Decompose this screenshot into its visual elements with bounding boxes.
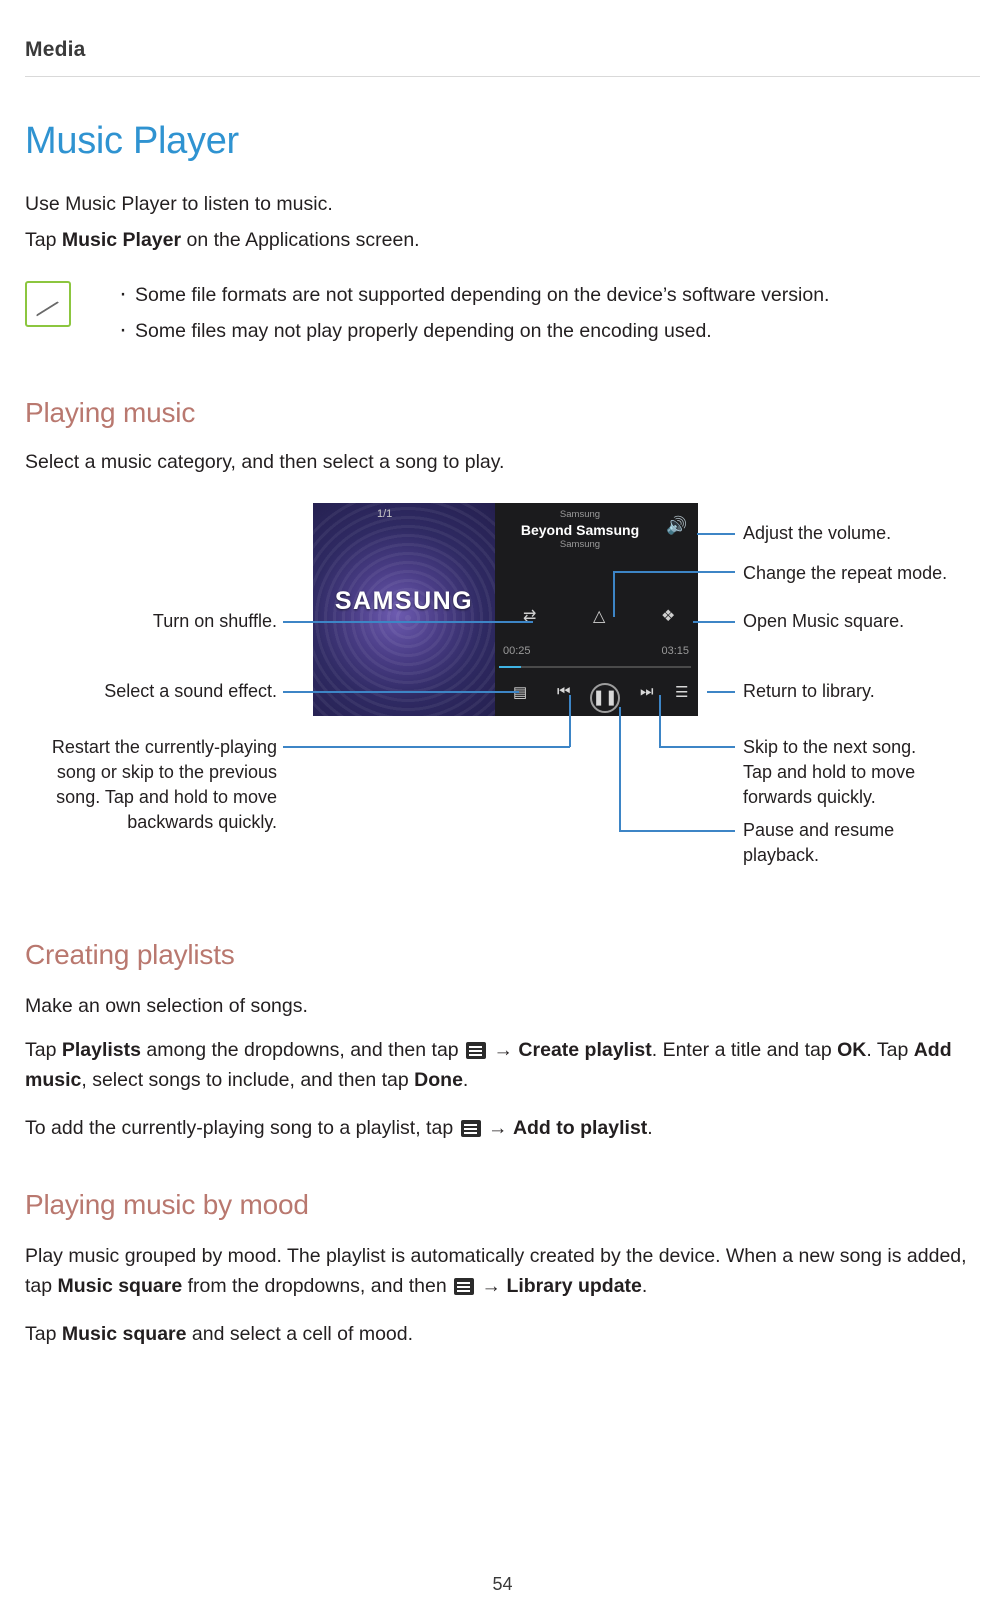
callout-repeat: Change the repeat mode. [743,561,1003,586]
menu-icon [454,1278,474,1295]
repeat-icon[interactable]: △ [593,607,605,627]
mood-p2-t2: and select a cell of mood. [187,1323,414,1345]
callout-next: Skip to the next song. Tap and hold to m… [743,735,958,810]
callout-pause: Pause and resume playback. [743,818,958,868]
callout-shuffle: Turn on shuffle. [45,609,277,634]
leader-line-square [693,621,735,623]
mood-p1-t3: . [642,1275,647,1297]
playlists-paragraph-2: To add the currently-playing song to a p… [25,1113,980,1143]
pl-p1-t3: . Enter a title and tap [652,1039,837,1061]
mood-paragraph-1: Play music grouped by mood. The playlist… [25,1241,980,1301]
mood-p2-t1: Tap [25,1323,62,1345]
pl-p1-t6: . [463,1069,468,1091]
note-item: Some file formats are not supported depe… [25,277,980,313]
track-position-indicator: 1/1 [377,508,392,520]
leader-line-volume [697,533,735,535]
intro-line-1: Use Music Player to listen to music. [25,189,980,219]
mood-p1-b2: Library update [506,1275,641,1297]
leader-line-library [707,691,735,693]
pl-p1-t2: among the dropdowns, and then tap [141,1039,464,1061]
pause-icon[interactable]: ❚❚ [590,683,620,713]
pl-p1-t5: , select songs to include, and then tap [81,1069,414,1091]
pl-p1-arrow: → [488,1039,518,1061]
music-square-icon[interactable]: ❖ [661,607,675,627]
leader-line-shuffle [283,621,533,623]
pl-p2-t1: To add the currently-playing song to a p… [25,1117,459,1139]
intro-2-bold: Music Player [62,229,181,251]
callout-volume: Adjust the volume. [743,521,1003,546]
playing-music-body: Select a music category, and then select… [25,447,980,477]
track-info: Samsung Beyond Samsung Samsung [495,509,665,551]
section-playing-music: Playing music [25,397,980,429]
callout-previous: Restart the currently-playing song or sk… [30,735,277,835]
callout-library: Return to library. [743,679,1003,704]
note-list: Some file formats are not supported depe… [25,277,980,349]
elapsed-time: 00:25 [503,645,531,657]
callout-music-square: Open Music square. [743,609,1003,634]
mood-p2-b1: Music square [62,1323,187,1345]
pl-p2-arrow: → [483,1117,513,1139]
section-creating-playlists: Creating playlists [25,939,980,971]
leader-line-next-h [659,746,735,748]
total-time: 03:15 [661,645,689,657]
artist-bottom-label: Samsung [495,539,665,551]
artist-top-label: Samsung [495,509,665,521]
pl-p1-t4: . Tap [866,1039,913,1061]
section-playing-by-mood: Playing music by mood [25,1189,980,1221]
creating-playlists-body: Make an own selection of songs. [25,991,980,1021]
next-track-icon[interactable]: ⏭ [640,683,654,700]
device-screenshot: SAMSUNG 1/1 Samsung Beyond Samsung Samsu… [313,503,698,716]
mood-p1-b1: Music square [58,1275,183,1297]
leader-line-sound-effect [283,691,519,693]
leader-line-next-v [659,695,661,747]
menu-icon [461,1120,481,1137]
progress-bar[interactable] [499,666,691,668]
transport-controls: ▤ ⏮ ❚❚ ⏭ ☰ [495,673,698,716]
note-block: Some file formats are not supported depe… [25,277,980,349]
leader-line-repeat-h [613,571,735,573]
intro-line-2: Tap Music Player on the Applications scr… [25,225,980,255]
leader-line-pause-v [619,707,621,831]
playlists-paragraph-1: Tap Playlists among the dropdowns, and t… [25,1035,980,1095]
leader-line-previous-h [283,746,570,748]
pl-p1-t1: Tap [25,1039,62,1061]
album-art-label: SAMSUNG [313,587,495,616]
header-divider [25,76,980,77]
pl-p1-b5: Done [414,1069,463,1091]
progress-fill [499,666,521,668]
pl-p2-t2: . [647,1117,652,1139]
document-content: Music Player Use Music Player to listen … [25,120,980,1349]
volume-icon[interactable]: 🔊 [666,516,688,536]
mood-p1-t2: from the dropdowns, and then [182,1275,452,1297]
page-title: Music Player [25,120,980,163]
library-list-icon[interactable]: ☰ [675,683,688,701]
intro-2-prefix: Tap [25,229,62,251]
pl-p2-b1: Add to playlist [513,1117,647,1139]
menu-icon [466,1042,486,1059]
track-title-label: Beyond Samsung [495,521,665,539]
leader-line-previous-v [569,695,571,747]
page-number: 54 [0,1574,1005,1595]
intro-2-suffix: on the Applications screen. [181,229,420,251]
pl-p1-b3: OK [837,1039,866,1061]
shuffle-icon[interactable]: ⇄ [523,607,536,627]
page-header: Media [25,38,86,62]
album-art: SAMSUNG [313,503,495,716]
music-player-figure: SAMSUNG 1/1 Samsung Beyond Samsung Samsu… [25,503,980,883]
leader-line-repeat-v [613,571,615,617]
mood-paragraph-2: Tap Music square and select a cell of mo… [25,1319,980,1349]
leader-line-pause-h [619,830,735,832]
pl-p1-b2: Create playlist [518,1039,651,1061]
note-item: Some files may not play properly dependi… [25,313,980,349]
mood-p1-arrow: → [476,1275,506,1297]
pl-p1-b1: Playlists [62,1039,141,1061]
callout-sound-effect: Select a sound effect. [45,679,277,704]
